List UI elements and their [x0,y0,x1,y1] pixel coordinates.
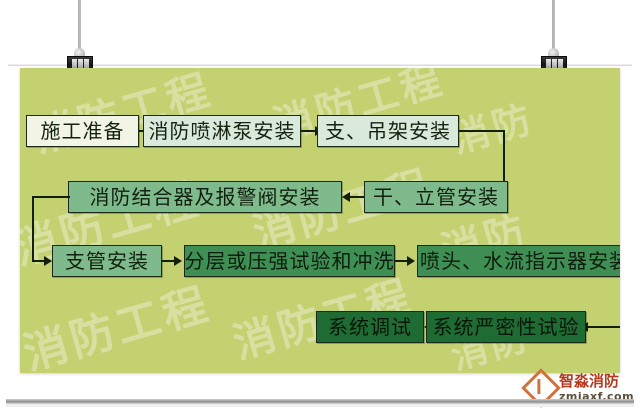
watermark: 消防工程 [20,268,217,373]
arrowhead-n5-n4-icon [342,192,350,202]
connector-n7-n8 [395,260,407,262]
connector-n6-n7 [162,260,174,262]
flow-node-label: 消防喷淋泵安装 [149,121,296,141]
flow-node-label: 消防结合器及报警阀安装 [90,187,321,207]
connector-n2-n3 [301,130,315,132]
logo-brand-text: 智淼消防 [559,374,634,389]
site-logo: 智淼消防 zmjaxf.com [527,374,634,402]
bottom-rail-shadow [6,404,634,407]
hanging-rail [8,64,632,66]
flow-node-support-hanger-installation[interactable]: 支、吊架安装 [317,115,459,147]
connector-n8-n10-bottom [588,326,620,328]
arrowhead-n6-n7-icon [174,256,182,266]
flow-node-label: 干、立管安装 [373,187,499,207]
poster-canvas: 消防工程 消防工程 消防 消防工程 消防工程 消防 消防工程 消防工程 消防 施… [20,68,620,373]
flow-node-branch-pipe-installation[interactable]: 支管安装 [52,245,162,277]
flow-node-layered-pressure-test-flushing[interactable]: 分层或压强试验和冲洗 [184,245,395,277]
connector-n4-n6-top [32,196,70,198]
flow-node-label: 喷头、水流指示器安装 [420,251,620,271]
connector-n5-n4 [350,196,364,198]
flow-node-label: 系统严密性试验 [433,317,580,337]
flow-node-system-commissioning[interactable]: 系统调试 [316,311,424,343]
flow-node-label: 系统调试 [328,317,412,337]
flow-node-sprinkler-pump-installation[interactable]: 消防喷淋泵安装 [143,115,301,147]
connector-n4-n6-bottom [32,260,44,262]
connector-n3-n5-top [459,130,505,132]
flow-node-label: 分层或压强试验和冲洗 [185,251,395,271]
flow-node-label: 支管安装 [65,251,149,271]
arrowhead-n4-n6-icon [44,256,52,266]
flow-node-sprinkler-head-flow-indicator-installation[interactable]: 喷头、水流指示器安装 [417,245,620,277]
flow-node-fire-connector-alarm-valve-installation[interactable]: 消防结合器及报警阀安装 [68,181,342,213]
flow-node-construction-preparation[interactable]: 施工准备 [26,115,139,147]
flow-node-label: 施工准备 [41,121,125,141]
connector-n4-n6-vertical [32,196,34,262]
flow-node-main-riser-pipe-installation[interactable]: 干、立管安装 [364,181,508,213]
flow-node-label: 支、吊架安装 [325,121,451,141]
screenshot-root: 消防工程 消防工程 消防 消防工程 消防工程 消防 消防工程 消防工程 消防 施… [0,0,640,414]
flow-node-system-tightness-test[interactable]: 系统严密性试验 [426,311,586,343]
arrowhead-n7-n8-icon [407,256,415,266]
